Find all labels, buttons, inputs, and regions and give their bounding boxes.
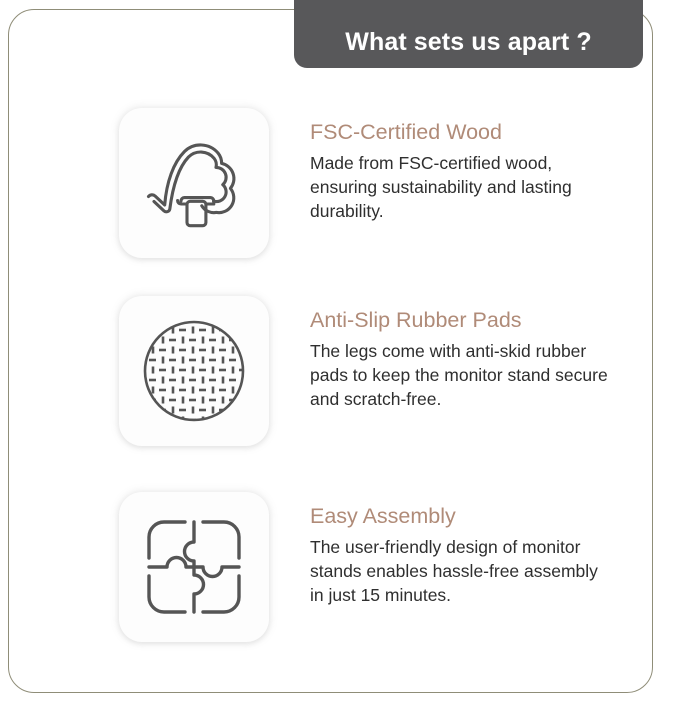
infographic-root: What sets us apart ?	[0, 0, 679, 702]
feature-text-block: FSC-Certified Wood Made from FSC-certifi…	[269, 108, 610, 223]
feature-text-block: Easy Assembly The user-friendly design o…	[269, 492, 610, 607]
feature-heading: Anti-Slip Rubber Pads	[310, 308, 610, 333]
feature-icon-card	[119, 108, 269, 258]
feature-heading: Easy Assembly	[310, 504, 610, 529]
feature-heading: FSC-Certified Wood	[310, 120, 610, 145]
feature-description: The legs come with anti-skid rubber pads…	[310, 339, 610, 411]
feature-item-easy-assembly: Easy Assembly The user-friendly design o…	[119, 492, 639, 642]
fsc-tree-checkmark-icon	[135, 124, 253, 242]
woven-rubber-pad-icon	[138, 315, 250, 427]
feature-description: Made from FSC-certified wood, ensuring s…	[310, 151, 610, 223]
jigsaw-puzzle-icon	[141, 514, 247, 620]
feature-item-anti-slip-rubber-pads: Anti-Slip Rubber Pads The legs come with…	[119, 296, 639, 446]
feature-icon-card	[119, 492, 269, 642]
feature-item-fsc-certified-wood: FSC-Certified Wood Made from FSC-certifi…	[119, 108, 639, 258]
feature-icon-card	[119, 296, 269, 446]
feature-description: The user-friendly design of monitor stan…	[310, 535, 610, 607]
feature-list: FSC-Certified Wood Made from FSC-certifi…	[0, 0, 679, 702]
feature-text-block: Anti-Slip Rubber Pads The legs come with…	[269, 296, 610, 411]
